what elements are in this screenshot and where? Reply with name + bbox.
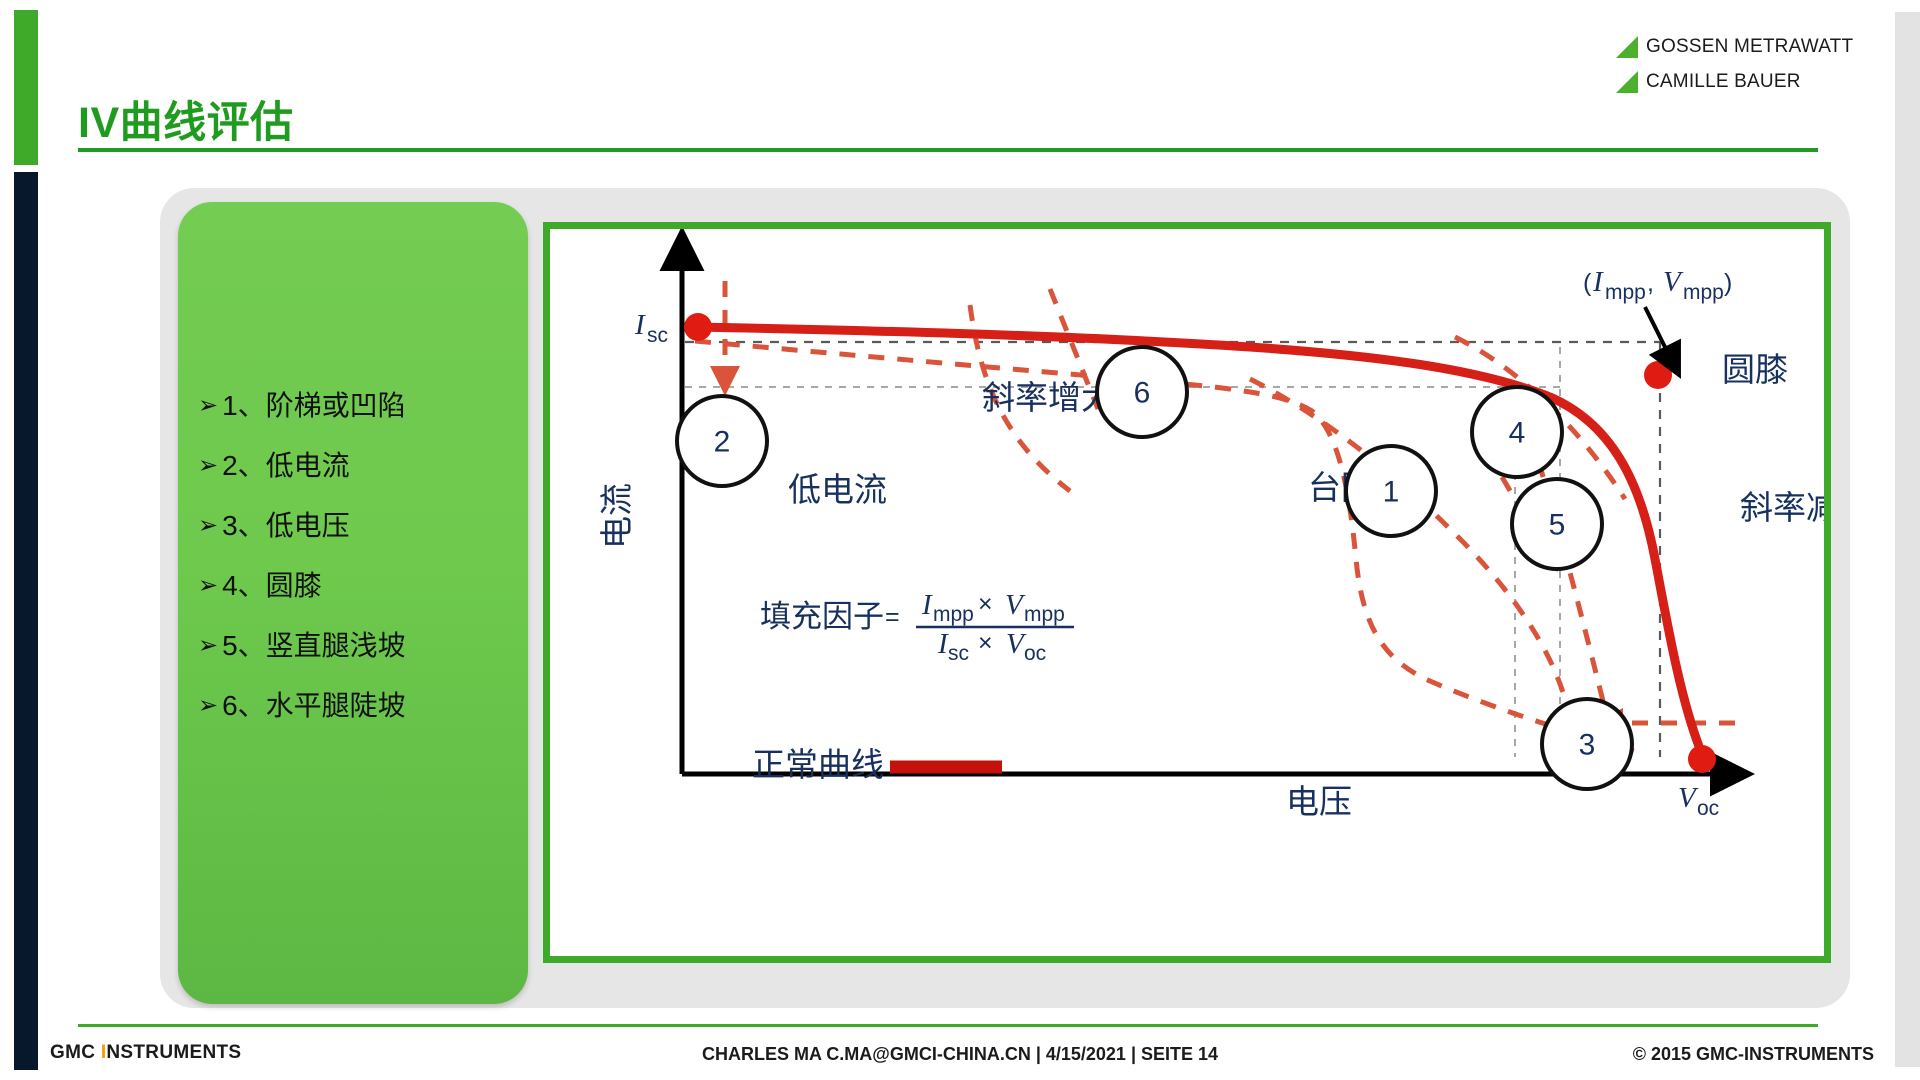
iv-curve-svg: I sc V oc ( I mpp , V mpp ) 圆膝 斜率增大 斜率减小… xyxy=(550,229,1824,956)
svg-text:sc: sc xyxy=(647,324,668,347)
marker-label: 3 xyxy=(1579,729,1596,762)
svg-text:mpp: mpp xyxy=(1024,603,1065,626)
logo-row-camille: CAMILLE BAUER xyxy=(1614,69,1874,95)
arrow-bullet-icon: ➢ xyxy=(198,452,218,480)
iv-curve-chart: I sc V oc ( I mpp , V mpp ) 圆膝 斜率增大 斜率减小… xyxy=(543,222,1831,963)
chart-legend: 正常曲线 xyxy=(752,745,1002,784)
list-item-label: 1、阶梯或凹陷 xyxy=(222,392,406,420)
svg-text:): ) xyxy=(1724,269,1732,297)
list-item-label: 6、水平腿陡坡 xyxy=(222,692,406,720)
svg-text:oc: oc xyxy=(1024,642,1046,665)
voc-label: V oc xyxy=(1678,782,1719,820)
svg-text:V: V xyxy=(1678,782,1699,814)
svg-text:I: I xyxy=(634,309,646,341)
marker-3[interactable]: 3 xyxy=(1542,699,1632,789)
svg-text:mpp: mpp xyxy=(1605,281,1646,304)
formula-equals: = xyxy=(885,603,900,631)
svg-text:mpp: mpp xyxy=(933,603,974,626)
marker-label: 5 xyxy=(1549,509,1566,542)
left-accent-bar-dark xyxy=(14,172,38,1070)
isc-point xyxy=(684,313,712,341)
svg-text:I: I xyxy=(921,589,933,621)
arrow-bullet-icon: ➢ xyxy=(198,512,218,540)
arrow-bullet-icon: ➢ xyxy=(198,572,218,600)
list-item-label: 3、低电压 xyxy=(222,512,350,540)
left-accent-bar-green xyxy=(14,10,38,165)
fill-factor-formula: 填充因子 = I mpp × V mpp I sc × V oc xyxy=(760,589,1074,665)
logo-block: GOSSEN METRAWATT CAMILLE BAUER xyxy=(1614,34,1874,104)
footer-divider xyxy=(78,1024,1818,1027)
isc-label: I sc xyxy=(634,309,668,347)
list-item-label: 2、低电流 xyxy=(222,452,350,480)
marker-4[interactable]: 4 xyxy=(1472,387,1562,477)
list-item[interactable]: ➢ 1、阶梯或凹陷 xyxy=(198,392,516,420)
svg-text:oc: oc xyxy=(1697,797,1719,820)
annotation-round-knee: 圆膝 xyxy=(1722,350,1788,389)
marker-6[interactable]: 6 xyxy=(1097,347,1187,437)
svg-text:V: V xyxy=(1005,589,1026,621)
svg-text:×: × xyxy=(978,629,993,657)
arrow-bullet-icon: ➢ xyxy=(198,632,218,660)
y-axis-label: 电流 xyxy=(597,483,636,549)
marker-2[interactable]: 2 xyxy=(677,396,767,486)
arrow-bullet-icon: ➢ xyxy=(198,392,218,420)
svg-text:I: I xyxy=(1592,266,1604,298)
mpp-callout: ( I mpp , V mpp ) xyxy=(1583,266,1732,361)
marker-label: 1 xyxy=(1383,476,1400,509)
sidebar-green-card: ➢ 1、阶梯或凹陷 ➢ 2、低电流 ➢ 3、低电压 ➢ 4、圆膝 ➢ 5、竖直腿… xyxy=(178,202,528,1004)
marker-1[interactable]: 1 xyxy=(1346,446,1436,536)
svg-text:×: × xyxy=(978,590,993,618)
page-title: IV曲线评估 xyxy=(78,88,294,150)
svg-text:,: , xyxy=(1647,269,1654,297)
svg-text:V: V xyxy=(1663,266,1684,298)
right-accent-bar xyxy=(1895,12,1920,1067)
annotation-slope-increase: 斜率增大 xyxy=(982,378,1114,417)
title-divider xyxy=(78,148,1818,152)
logo-row-gossen: GOSSEN METRAWATT xyxy=(1614,34,1874,60)
annotation-slope-decrease: 斜率减小 xyxy=(1740,488,1824,527)
list-item[interactable]: ➢ 4、圆膝 xyxy=(198,572,516,600)
list-item-label: 4、圆膝 xyxy=(222,572,322,600)
defect-list: ➢ 1、阶梯或凹陷 ➢ 2、低电流 ➢ 3、低电压 ➢ 4、圆膝 ➢ 5、竖直腿… xyxy=(198,392,516,752)
green-triangle-icon xyxy=(1614,34,1640,60)
legend-label: 正常曲线 xyxy=(752,745,884,784)
mpp-arrow xyxy=(1645,307,1672,361)
list-item[interactable]: ➢ 2、低电流 xyxy=(198,452,516,480)
list-item[interactable]: ➢ 5、竖直腿浅坡 xyxy=(198,632,516,660)
green-triangle-icon xyxy=(1614,69,1640,95)
svg-text:sc: sc xyxy=(948,642,969,665)
mpp-point xyxy=(1644,361,1672,389)
list-item-label: 5、竖直腿浅坡 xyxy=(222,632,406,660)
logo-label-gossen: GOSSEN METRAWATT xyxy=(1646,36,1853,58)
marker-5[interactable]: 5 xyxy=(1512,479,1602,569)
marker-label: 6 xyxy=(1134,377,1151,410)
footer-copyright: © 2015 GMC-INSTRUMENTS xyxy=(1633,1044,1874,1065)
formula-lhs: 填充因子 xyxy=(760,599,884,635)
list-item[interactable]: ➢ 6、水平腿陡坡 xyxy=(198,692,516,720)
voc-point xyxy=(1688,745,1716,773)
x-axis-label: 电压 xyxy=(1286,782,1352,821)
list-item[interactable]: ➢ 3、低电压 xyxy=(198,512,516,540)
annotation-low-current: 低电流 xyxy=(788,470,887,509)
logo-label-camille: CAMILLE BAUER xyxy=(1646,71,1801,93)
marker-label: 4 xyxy=(1509,417,1526,450)
marker-label: 2 xyxy=(714,426,731,459)
svg-text:(: ( xyxy=(1583,269,1592,297)
svg-text:mpp: mpp xyxy=(1683,281,1724,304)
arrow-bullet-icon: ➢ xyxy=(198,692,218,720)
